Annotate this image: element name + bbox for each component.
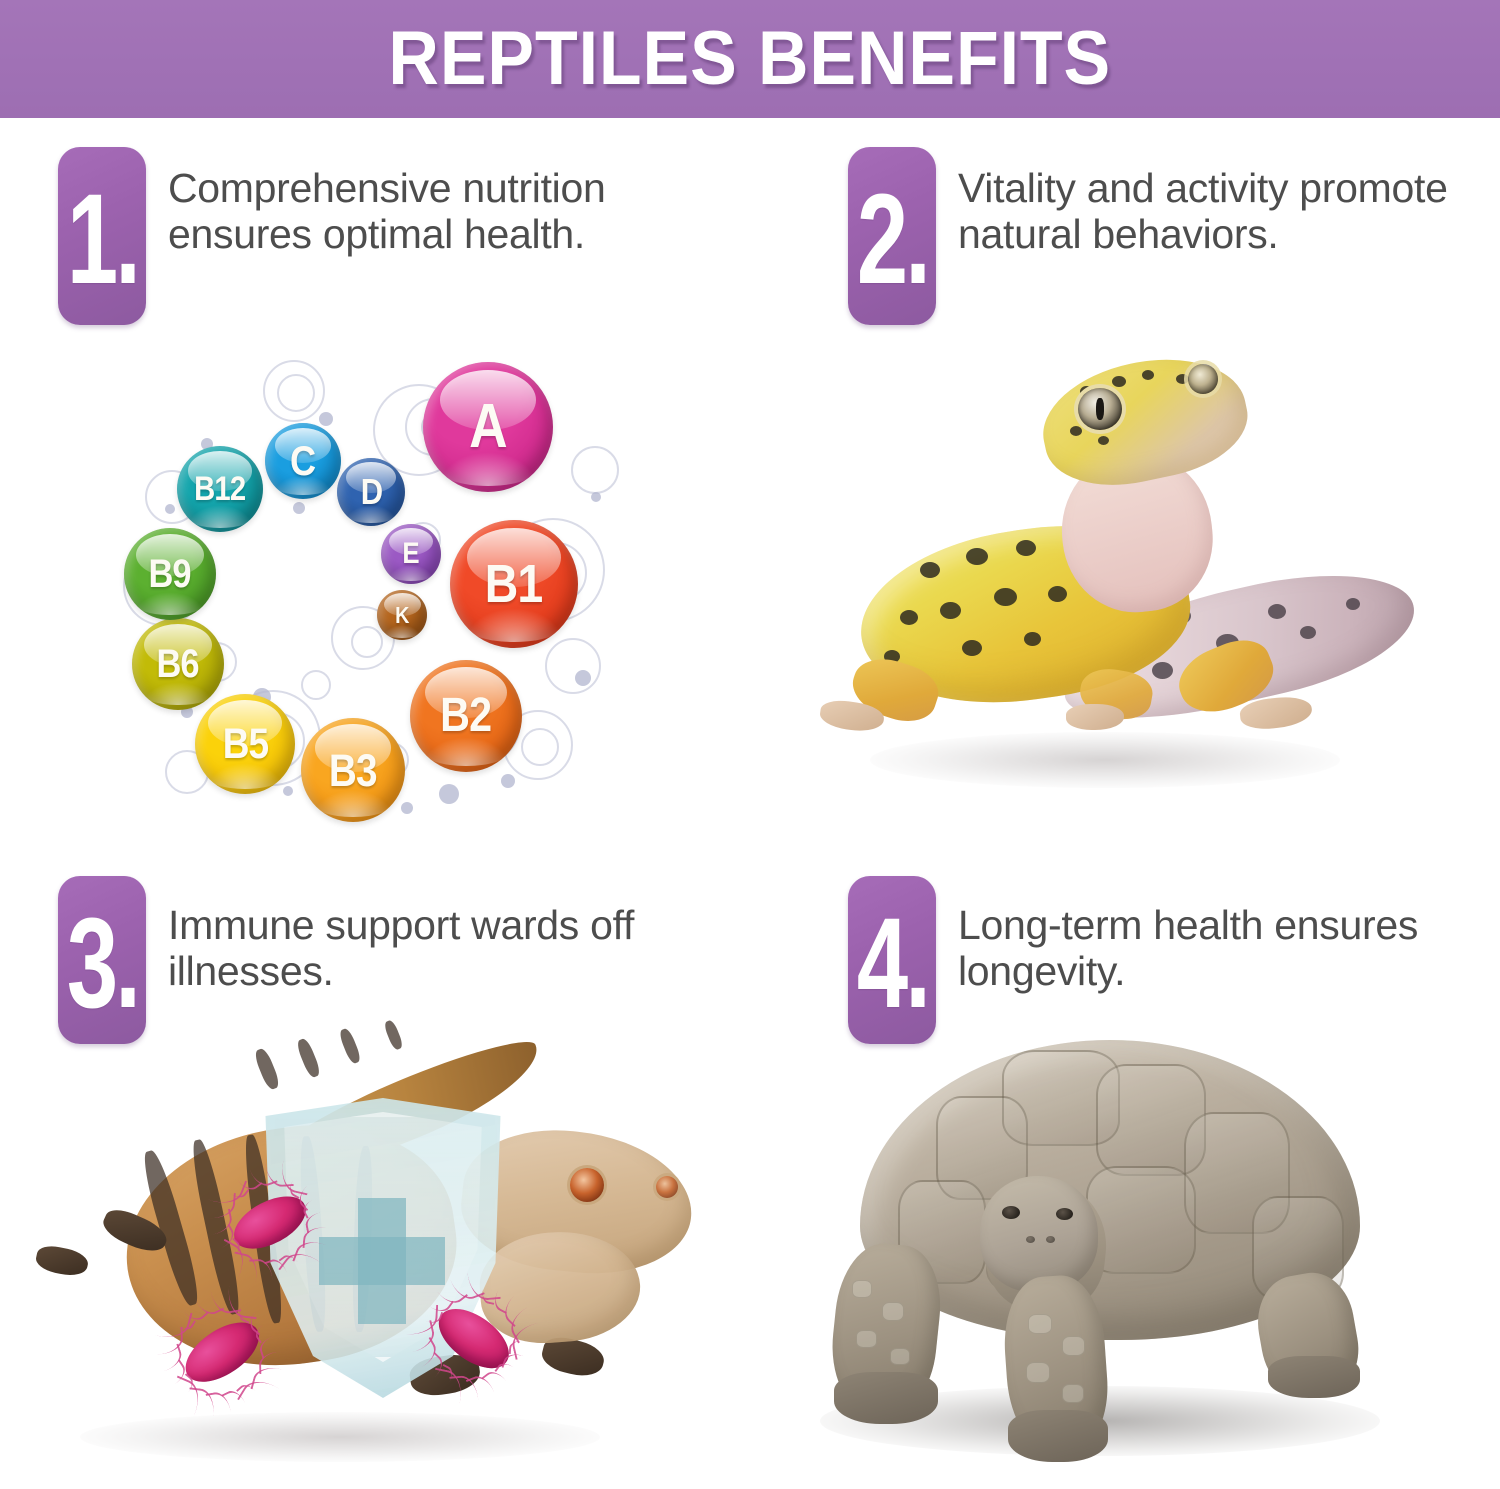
caption-1: 1. Comprehensive nutrition ensures optim… <box>0 125 750 325</box>
vitamin-sphere-label: K <box>395 604 408 627</box>
benefit-text-4: Long-term health ensures longevity. <box>958 876 1500 995</box>
bacteria-icon <box>150 1290 291 1415</box>
number-badge-4: 4. <box>848 876 936 1044</box>
decorative-ring <box>277 374 315 412</box>
vitamin-sphere-a: A <box>423 362 553 492</box>
vitamin-sphere-b5: B5 <box>195 694 295 794</box>
decorative-dot <box>165 504 175 514</box>
caption-2: 2. Vitality and activity promote natural… <box>750 125 1500 325</box>
vitamin-sphere-label: E <box>403 539 419 569</box>
decorative-dot <box>293 502 305 514</box>
bacteria-icon <box>405 1276 541 1399</box>
badge-number-label: 3. <box>66 903 137 1025</box>
ground-shadow <box>870 732 1340 788</box>
vitamin-sphere-label: D <box>360 474 382 510</box>
benefit-text-2: Vitality and activity promote natural be… <box>958 147 1500 258</box>
decorative-dot <box>319 412 333 426</box>
decorative-ring <box>351 626 383 658</box>
gecko-head <box>1032 342 1257 500</box>
decorative-dot <box>501 774 515 788</box>
vitamin-wheel-illustration: AB1B2B3B5B6B9B12CDEK <box>105 350 605 850</box>
vitamin-sphere-d: D <box>337 458 405 526</box>
number-badge-3: 3. <box>58 876 146 1044</box>
vitamin-sphere-c: C <box>265 423 341 499</box>
benefit-panel-1: 1. Comprehensive nutrition ensures optim… <box>0 125 750 860</box>
benefit-text-1: Comprehensive nutrition ensures optimal … <box>168 147 728 258</box>
decorative-dot <box>591 492 601 502</box>
leopard-gecko-photo <box>780 340 1470 840</box>
number-badge-2: 2. <box>848 147 936 325</box>
decorative-ring <box>521 728 559 766</box>
badge-number-label: 2. <box>856 179 927 301</box>
vitamin-sphere-label: B3 <box>329 748 377 793</box>
vitamin-sphere-b12: B12 <box>177 446 263 532</box>
decorative-dot <box>283 786 293 796</box>
vitamin-sphere-k: K <box>377 590 427 640</box>
vitamin-sphere-label: B12 <box>194 472 245 506</box>
vitamin-sphere-label: A <box>469 396 507 458</box>
page-title: REPTILES BENEFITS <box>389 21 1112 97</box>
badge-number-label: 4. <box>856 903 927 1025</box>
decorative-dot <box>401 802 413 814</box>
bacteria-icon <box>202 1168 335 1278</box>
tortoise-head <box>980 1176 1098 1292</box>
vitamin-sphere-e: E <box>381 524 441 584</box>
vitamin-sphere-label: B6 <box>157 644 199 684</box>
vitamin-sphere-label: C <box>290 440 315 482</box>
infographic-page: REPTILES BENEFITS 1. Comprehensive nutri… <box>0 0 1500 1489</box>
benefit-panel-2: 2. Vitality and activity promote natural… <box>750 125 1500 860</box>
tortoise-rear-foot <box>1268 1356 1360 1398</box>
vitamin-sphere-label: B1 <box>485 557 543 611</box>
decorative-dot <box>439 784 459 804</box>
tortoise-front-right-foot <box>1008 1410 1108 1462</box>
vitamin-sphere-b6: B6 <box>132 618 224 710</box>
vitamin-sphere-b3: B3 <box>301 718 405 822</box>
header-bar: REPTILES BENEFITS <box>0 0 1500 118</box>
vitamin-sphere-label: B2 <box>440 692 491 740</box>
vitamin-sphere-label: B9 <box>149 554 191 594</box>
caption-3: 3. Immune support wards off illnesses. <box>0 860 750 1044</box>
skink-with-immune-shield-photo <box>10 1020 730 1480</box>
bacteria-flagellum <box>509 1340 532 1355</box>
badge-number-label: 1. <box>66 179 137 301</box>
decorative-dot <box>575 670 591 686</box>
tortoise-front-left-foot <box>834 1372 938 1424</box>
decorative-ring <box>301 670 331 700</box>
skink-eye <box>570 1168 604 1202</box>
benefit-text-3: Immune support wards off illnesses. <box>168 876 728 995</box>
vitamin-sphere-label: B5 <box>222 723 268 766</box>
decorative-ring <box>571 446 619 494</box>
vitamin-sphere-b1: B1 <box>450 520 578 648</box>
caption-4: 4. Long-term health ensures longevity. <box>750 860 1500 1044</box>
vitamin-sphere-b2: B2 <box>410 660 522 772</box>
decorative-ring <box>545 638 601 694</box>
giant-tortoise-photo <box>790 1030 1470 1480</box>
vitamin-sphere-b9: B9 <box>124 528 216 620</box>
benefit-panel-3: 3. Immune support wards off illnesses. <box>0 860 750 1489</box>
tortoise-eye <box>1002 1206 1020 1219</box>
number-badge-1: 1. <box>58 147 146 325</box>
benefit-panel-4: 4. Long-term health ensures longevity. <box>750 860 1500 1489</box>
